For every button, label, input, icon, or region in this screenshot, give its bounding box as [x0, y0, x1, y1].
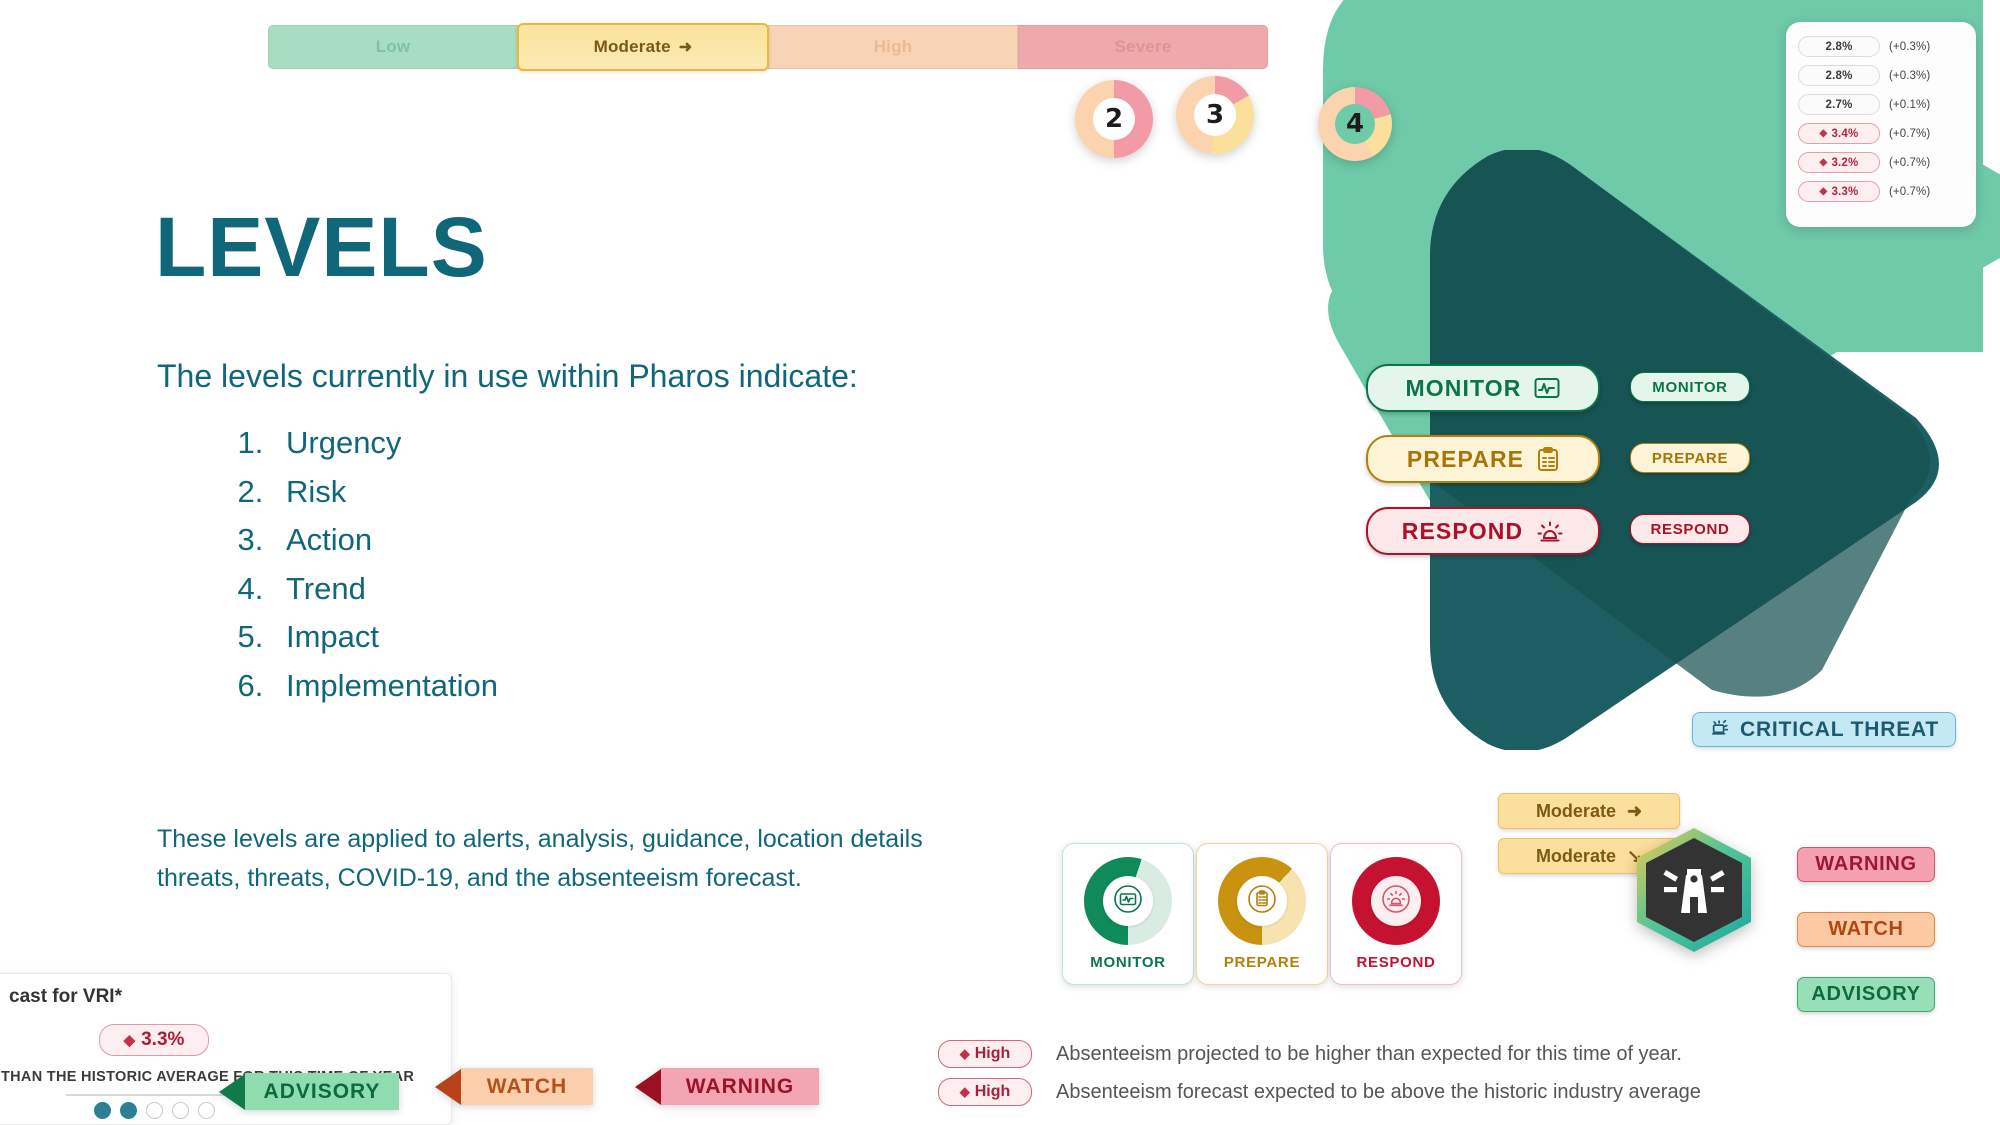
ring-center: [1103, 876, 1153, 926]
vri-step-dots: [94, 1102, 215, 1119]
arrow-tip-icon: [435, 1069, 461, 1105]
gauge-value: 2: [1093, 98, 1135, 140]
list-item: Impact: [272, 619, 498, 655]
banner-label: WATCH: [461, 1068, 593, 1105]
stat-row: 2.8% (+0.3%): [1798, 61, 1964, 90]
clipboard-icon: [1247, 884, 1277, 919]
stat-row: ◆ 3.3% (+0.7%): [1798, 177, 1964, 206]
stat-value-pill: 2.7%: [1798, 94, 1880, 115]
stat-delta: (+0.7%): [1889, 157, 1930, 169]
badge-label: PREPARE: [1652, 450, 1728, 467]
level-segment-label: High: [874, 37, 913, 57]
stat-value-pill: ◆ 3.2%: [1798, 152, 1880, 173]
alert-diamond-icon: ◆: [960, 1084, 970, 1100]
list-item: Risk: [272, 474, 498, 510]
arrow-banner-advisory[interactable]: ADVISORY: [219, 1073, 399, 1110]
severity-label: High: [975, 1045, 1011, 1063]
alert-diamond-icon: ◆: [960, 1046, 970, 1062]
level-segment-label: Low: [376, 37, 411, 57]
status-pill-advisory[interactable]: ADVISORY: [1797, 977, 1935, 1012]
critical-threat-badge[interactable]: CRITICAL THREAT: [1692, 712, 1956, 747]
absenteeism-text: Absenteeism projected to be higher than …: [1056, 1043, 1682, 1066]
stat-value: 2.7%: [1825, 99, 1852, 111]
badge-label: MONITOR: [1652, 379, 1727, 396]
gauge-donut-3: 3: [1176, 76, 1254, 154]
badge-monitor-large[interactable]: MONITOR: [1366, 364, 1600, 412]
stat-row: ◆ 3.2% (+0.7%): [1798, 148, 1964, 177]
severity-label: High: [975, 1083, 1011, 1101]
siren-icon: [1709, 717, 1731, 742]
vri-card-title: cast for VRI*: [9, 986, 122, 1008]
arrow-tip-icon: [219, 1074, 245, 1110]
levels-list: Urgency Risk Action Trend Impact Impleme…: [228, 425, 498, 716]
siren-icon: [1536, 519, 1564, 544]
badge-label: RESPOND: [1650, 521, 1729, 538]
chip-label: Moderate: [1536, 846, 1616, 867]
chip-label: Moderate: [1536, 801, 1616, 822]
moderate-chip-flat[interactable]: Moderate ➜: [1498, 793, 1680, 829]
level-segment-label: Moderate: [594, 37, 671, 57]
vri-value-pill: ◆ 3.3%: [99, 1024, 209, 1056]
stat-value-pill: 2.8%: [1798, 65, 1880, 86]
clipboard-icon: [1537, 447, 1559, 472]
progress-ring: [1352, 857, 1440, 945]
stat-delta: (+0.1%): [1889, 99, 1930, 111]
stat-value: 3.3%: [1831, 186, 1858, 198]
badge-label: MONITOR: [1406, 375, 1522, 402]
arrow-banner-warning[interactable]: WARNING: [635, 1068, 819, 1105]
gauge-value: 3: [1194, 94, 1236, 136]
banner-label: WARNING: [661, 1068, 819, 1105]
arrow-banner-watch[interactable]: WATCH: [435, 1068, 593, 1105]
arrow-tip-icon: [635, 1069, 661, 1105]
gauge-donut-4: 4: [1318, 87, 1392, 161]
step-dot: [198, 1102, 215, 1119]
step-dot: [146, 1102, 163, 1119]
status-label: WARNING: [1815, 853, 1917, 876]
badge-respond-large[interactable]: RESPOND: [1366, 507, 1600, 555]
status-pill-warning[interactable]: WARNING: [1797, 847, 1935, 882]
stat-value-pill: 2.8%: [1798, 36, 1880, 57]
badge-label: RESPOND: [1402, 518, 1523, 545]
absenteeism-row: ◆ High Absenteeism projected to be highe…: [938, 1040, 1682, 1068]
stat-value: 2.8%: [1825, 41, 1852, 53]
stat-value-pill: ◆ 3.3%: [1798, 181, 1880, 202]
stat-row: 2.7% (+0.1%): [1798, 90, 1964, 119]
gauge-donut-2: 2: [1075, 80, 1153, 158]
pharos-lighthouse-logo: [1630, 825, 1758, 955]
closing-paragraph: These levels are applied to alerts, anal…: [157, 820, 1007, 898]
siren-icon: [1381, 884, 1411, 919]
banner-label: ADVISORY: [245, 1073, 399, 1110]
level-segment-low[interactable]: Low: [268, 25, 518, 69]
monitor-chart-icon: [1534, 377, 1560, 399]
card-label: MONITOR: [1090, 954, 1165, 971]
stat-value-pill: ◆ 3.4%: [1798, 123, 1880, 144]
absenteeism-text: Absenteeism forecast expected to be abov…: [1056, 1081, 1701, 1104]
level-segment-moderate[interactable]: Moderate ➜: [517, 23, 769, 71]
list-item: Urgency: [272, 425, 498, 461]
status-pill-watch[interactable]: WATCH: [1797, 912, 1935, 947]
stat-row: ◆ 3.4% (+0.7%): [1798, 119, 1964, 148]
stat-delta: (+0.3%): [1889, 70, 1930, 82]
alert-diamond-icon: ◆: [1820, 186, 1828, 197]
list-item: Trend: [272, 571, 498, 607]
vri-value: 3.3%: [141, 1029, 184, 1051]
list-item: Action: [272, 522, 498, 558]
absenteeism-row: ◆ High Absenteeism forecast expected to …: [938, 1078, 1701, 1106]
card-label: RESPOND: [1356, 954, 1435, 971]
ring-center: [1237, 876, 1287, 926]
page-title: LEVELS: [155, 205, 488, 289]
badge-prepare-large[interactable]: PREPARE: [1366, 435, 1600, 483]
badge-respond-small[interactable]: RESPOND: [1630, 514, 1750, 544]
stat-value: 3.4%: [1831, 128, 1858, 140]
severity-pill-high: ◆ High: [938, 1040, 1032, 1068]
stat-value: 3.2%: [1831, 157, 1858, 169]
badge-monitor-small[interactable]: MONITOR: [1630, 372, 1750, 402]
arrow-right-icon: ➜: [1627, 801, 1642, 822]
alert-diamond-icon: ◆: [124, 1031, 136, 1049]
stats-card: 2.8% (+0.3%) 2.8% (+0.3%) 2.7% (+0.1%) ◆…: [1786, 22, 1976, 227]
level-bar[interactable]: Low Moderate ➜ High Severe: [268, 25, 1268, 69]
stat-value: 2.8%: [1825, 70, 1852, 82]
progress-ring: [1218, 857, 1306, 945]
status-label: ADVISORY: [1811, 983, 1920, 1006]
level-segment-label: Severe: [1115, 37, 1172, 57]
card-label: PREPARE: [1224, 954, 1300, 971]
stat-row: 2.8% (+0.3%): [1798, 32, 1964, 61]
circle-card-respond[interactable]: RESPOND: [1330, 843, 1462, 985]
alert-diamond-icon: ◆: [1820, 128, 1828, 139]
circle-card-monitor[interactable]: MONITOR: [1062, 843, 1194, 985]
list-item: Implementation: [272, 668, 498, 704]
step-dot: [94, 1102, 111, 1119]
badge-label: PREPARE: [1407, 446, 1524, 473]
level-segment-severe[interactable]: Severe: [1018, 25, 1268, 69]
level-segment-high[interactable]: High: [768, 25, 1018, 69]
arrow-right-icon: ➜: [679, 37, 693, 57]
critical-threat-label: CRITICAL THREAT: [1740, 718, 1939, 742]
severity-pill-high: ◆ High: [938, 1078, 1032, 1106]
stat-delta: (+0.7%): [1889, 128, 1930, 140]
slide-canvas: Low Moderate ➜ High Severe 2 3 4 2.8% (+…: [0, 0, 2000, 1125]
ring-center: [1371, 876, 1421, 926]
stat-delta: (+0.3%): [1889, 41, 1930, 53]
step-dot: [120, 1102, 137, 1119]
intro-paragraph: The levels currently in use within Pharo…: [157, 358, 1077, 395]
badge-prepare-small[interactable]: PREPARE: [1630, 443, 1750, 473]
alert-diamond-icon: ◆: [1820, 157, 1828, 168]
status-label: WATCH: [1828, 918, 1903, 941]
stat-delta: (+0.7%): [1889, 186, 1930, 198]
gauge-value: 4: [1335, 104, 1375, 144]
progress-ring: [1084, 857, 1172, 945]
circle-card-prepare[interactable]: PREPARE: [1196, 843, 1328, 985]
monitor-chart-icon: [1113, 884, 1143, 919]
step-dot: [172, 1102, 189, 1119]
